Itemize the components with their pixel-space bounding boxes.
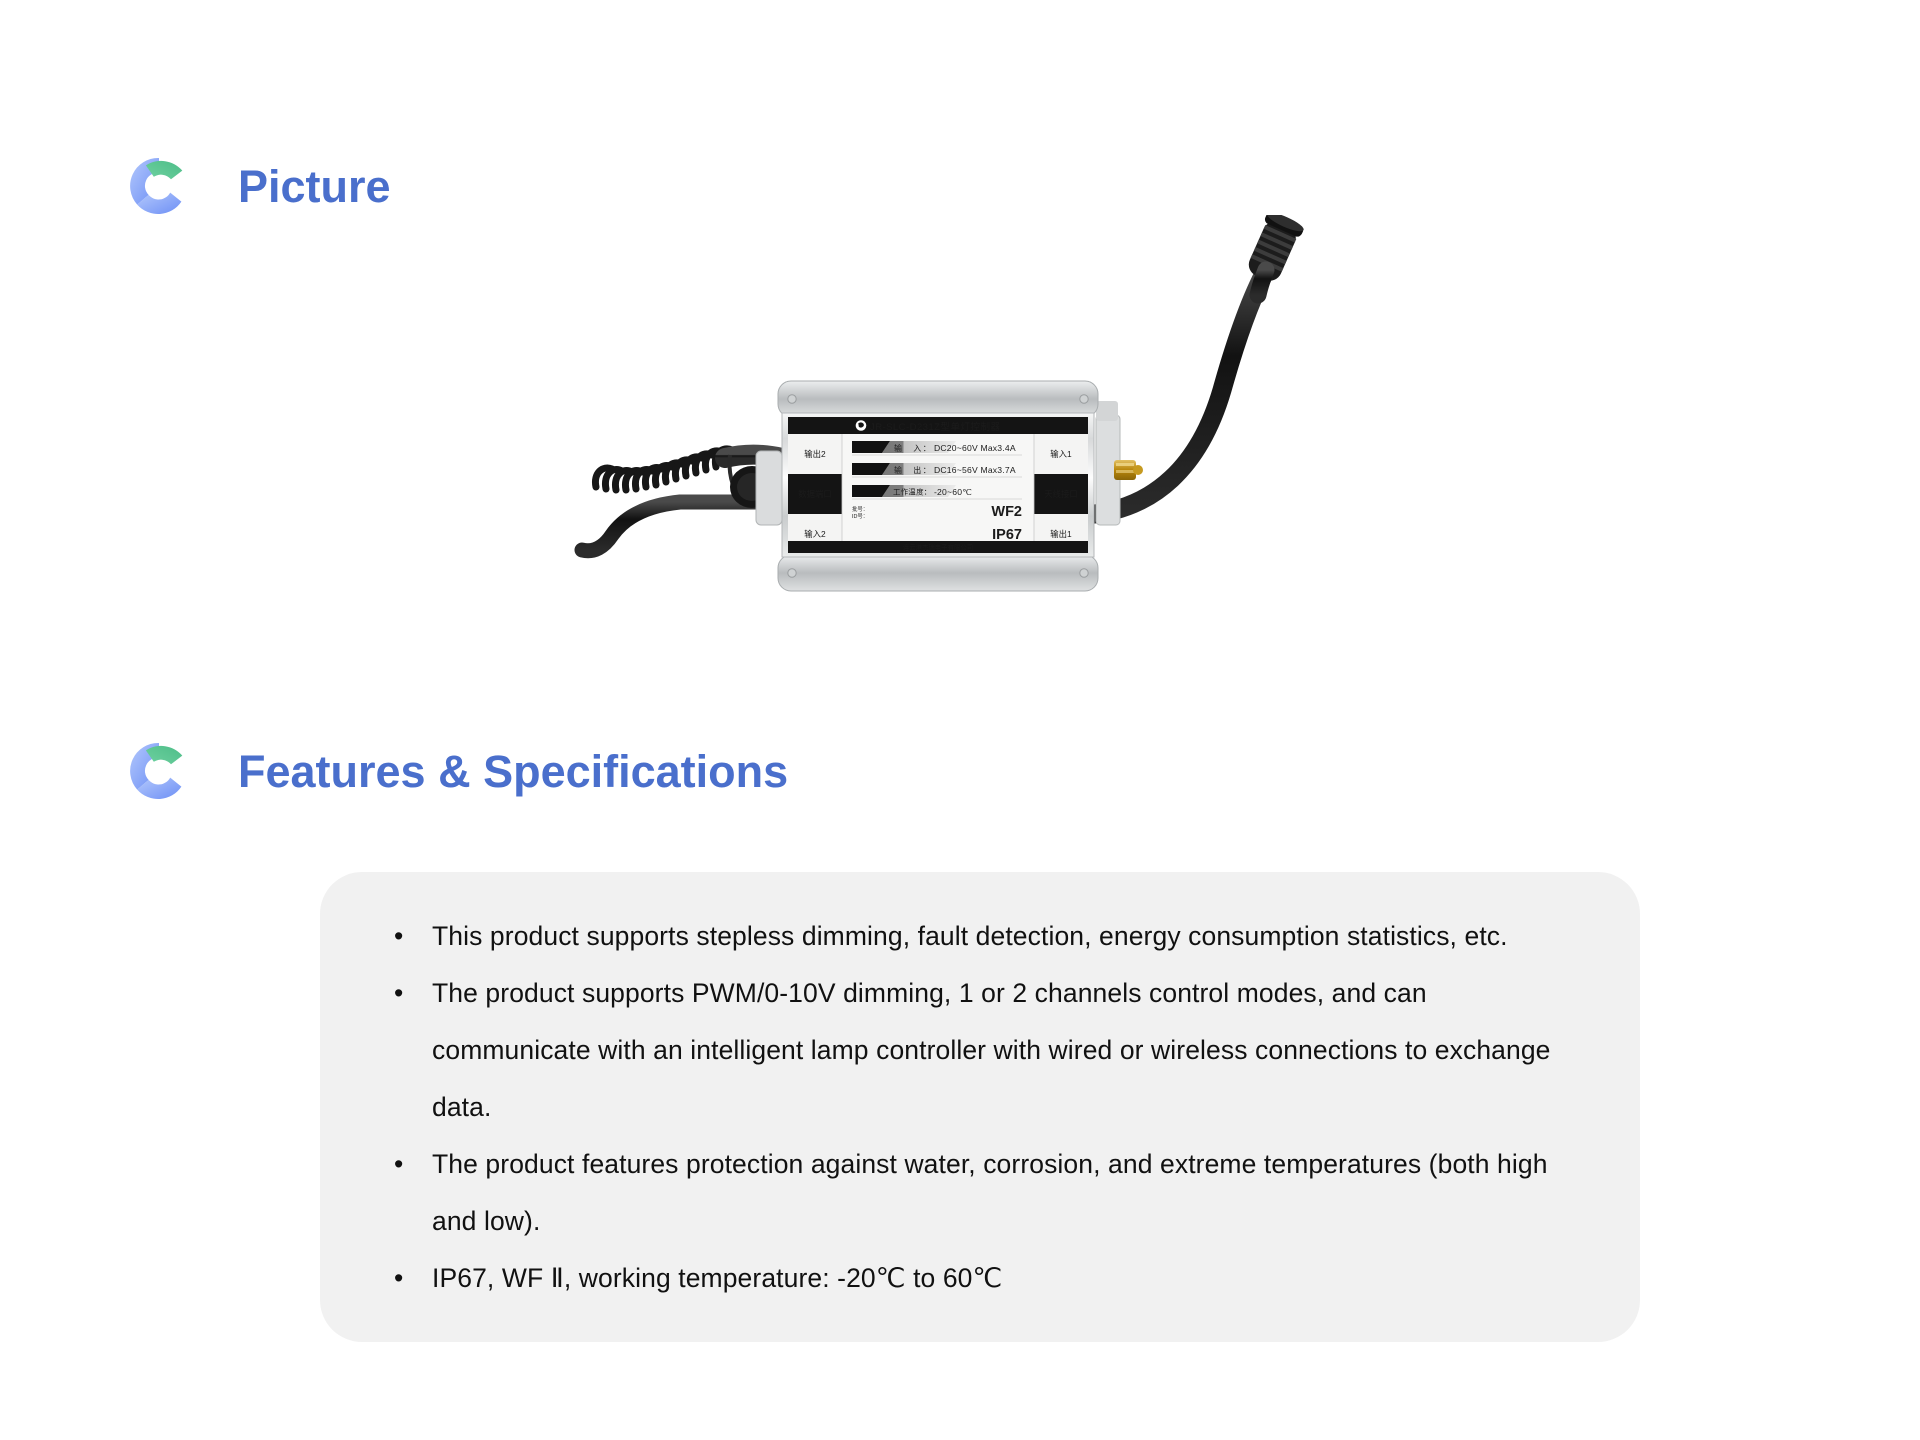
c-logo-icon [128, 155, 190, 217]
list-item-text: The product supports PWM/0-10V dimming, … [432, 978, 1551, 1122]
svg-text:天线接口: 天线接口 [1044, 489, 1078, 499]
bullet-icon: • [394, 1250, 403, 1307]
svg-text:输 出：: 输 出： [894, 465, 932, 475]
features-section-header: Features & Specifications [128, 740, 788, 802]
svg-text:JR-SLC-D231Z型单灯控制器: JR-SLC-D231Z型单灯控制器 [870, 421, 1000, 433]
svg-text:输入1: 输入1 [1050, 449, 1072, 459]
product-image: JR-SLC-D231Z型单灯控制器 输出2 数据端口 输入2 输入1 天线接口… [560, 215, 1340, 615]
svg-text:输 入：: 输 入： [894, 443, 932, 453]
svg-text:DC16~56V Max3.7A: DC16~56V Max3.7A [934, 465, 1016, 475]
list-item: • This product supports stepless dimming… [372, 908, 1580, 965]
svg-text:输出1: 输出1 [1050, 529, 1072, 539]
device-brand-icon [856, 420, 867, 431]
list-item-text: IP67, WF Ⅱ, working temperature: -20℃ to… [432, 1263, 1002, 1293]
svg-text:数据端口: 数据端口 [798, 489, 832, 499]
svg-text:输入2: 输入2 [804, 529, 826, 539]
list-item: • The product supports PWM/0-10V dimming… [372, 965, 1580, 1136]
svg-text:工作温度：: 工作温度： [893, 488, 931, 497]
bullet-icon: • [394, 1136, 403, 1193]
svg-text:批号：: 批号： [852, 505, 868, 513]
list-item-text: The product features protection against … [432, 1149, 1548, 1236]
bullet-icon: • [394, 908, 403, 965]
list-item: • IP67, WF Ⅱ, working temperature: -20℃ … [372, 1250, 1580, 1307]
page-title-picture: Picture [238, 164, 391, 209]
svg-text:IP67: IP67 [992, 527, 1022, 543]
features-panel: • This product supports stepless dimming… [320, 872, 1640, 1342]
features-bullet-list: • This product supports stepless dimming… [372, 908, 1580, 1307]
list-item: • The product features protection agains… [372, 1136, 1580, 1250]
svg-text:DC20~60V Max3.4A: DC20~60V Max3.4A [934, 443, 1016, 453]
svg-text:连云港杰瑞电子有限公司: 连云港杰瑞电子有限公司 [903, 543, 973, 552]
svg-text:ID号：: ID号： [852, 513, 868, 520]
list-item-text: This product supports stepless dimming, … [432, 921, 1508, 951]
svg-text:-20~60℃: -20~60℃ [934, 487, 972, 497]
bullet-icon: • [394, 965, 403, 1022]
svg-text:WF2: WF2 [991, 504, 1022, 520]
page-title-features: Features & Specifications [238, 749, 788, 794]
c-logo-icon [128, 740, 190, 802]
svg-text:输出2: 输出2 [804, 449, 826, 459]
picture-section-header: Picture [128, 155, 391, 217]
